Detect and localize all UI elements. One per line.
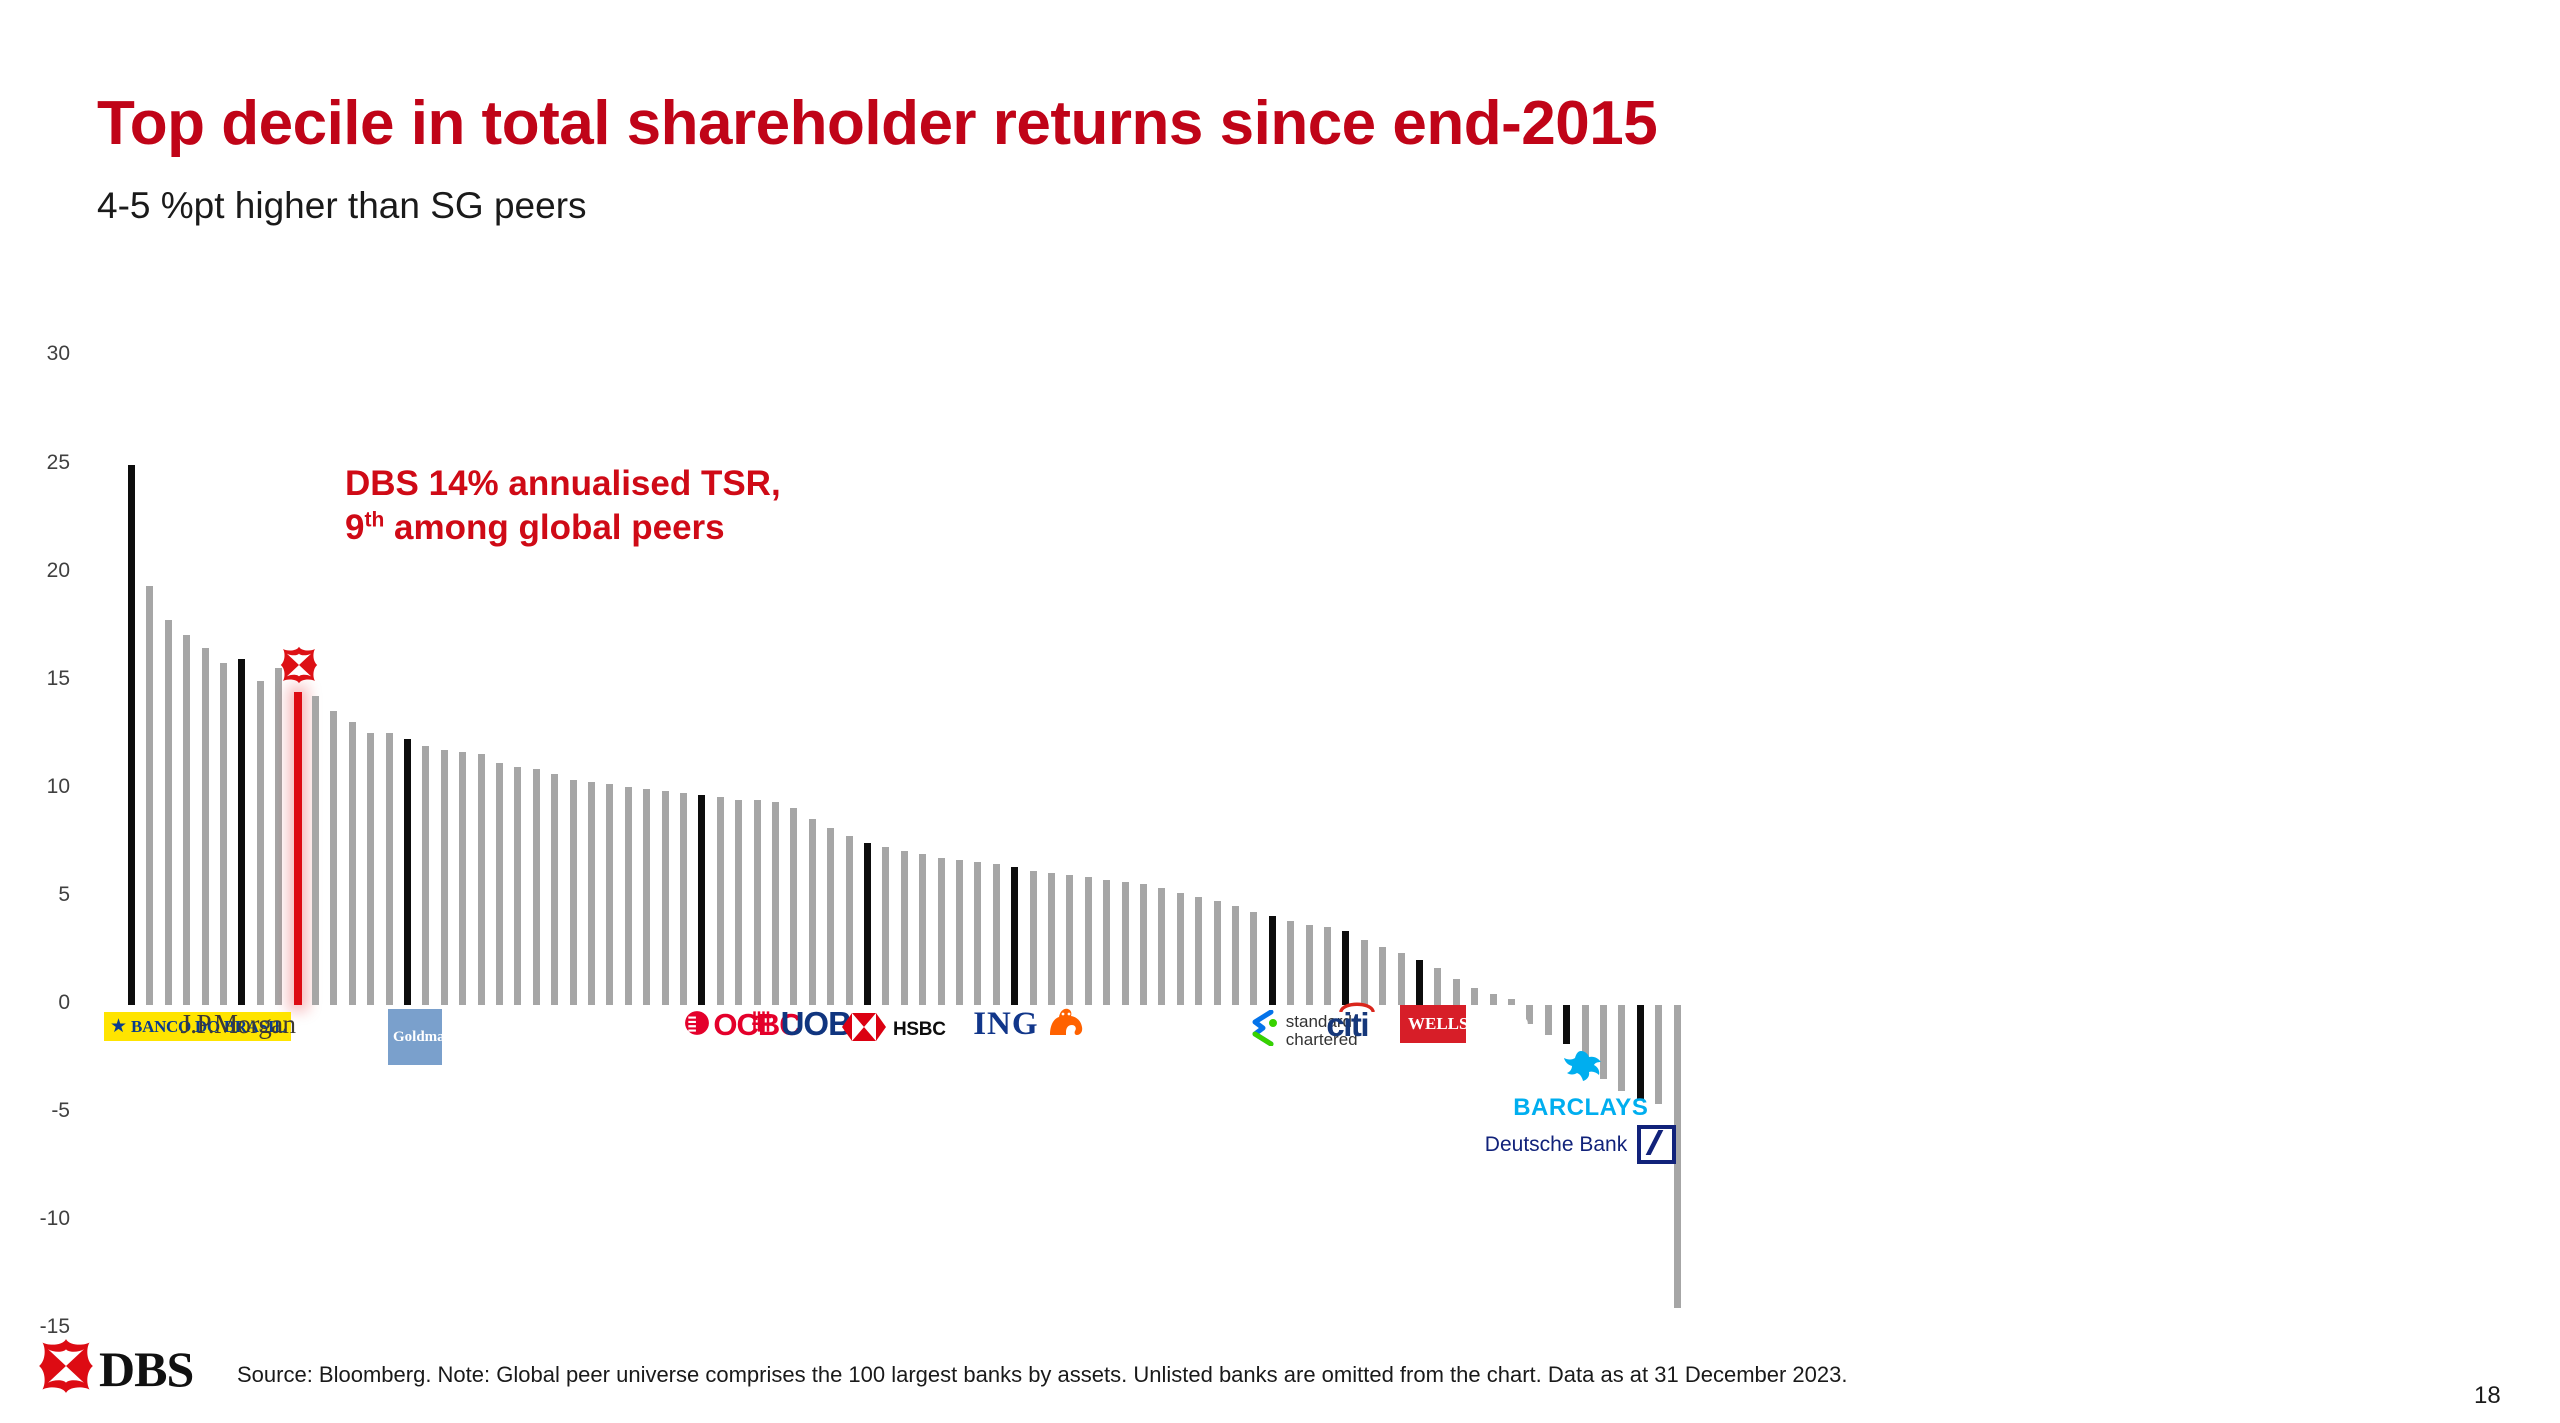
bar-peer: [1030, 871, 1037, 1005]
y-axis-tick: -10: [10, 1207, 70, 1231]
bar-peer: [478, 754, 485, 1005]
bar-peer: [827, 828, 834, 1005]
bar-peer: [422, 746, 429, 1005]
barclays-label: BARCLAYS: [1513, 1094, 1648, 1122]
bar-peer: [1545, 1005, 1552, 1035]
bar-peer: [349, 722, 356, 1005]
bar-peer: [1471, 988, 1478, 1005]
bar-peer: [754, 800, 761, 1005]
bar-peer: [312, 696, 319, 1005]
bar-peer: [1195, 897, 1202, 1005]
bar-peer: [551, 774, 558, 1005]
bar-peer: [846, 836, 853, 1005]
standard-chartered-mark-icon: [1247, 1010, 1279, 1051]
deutsche-bank-label: Deutsche Bank: [1485, 1133, 1627, 1157]
bar-peer: [441, 750, 448, 1005]
bar-peer: [496, 763, 503, 1005]
bar-peer: [238, 659, 245, 1005]
y-axis-tick: 25: [10, 451, 70, 475]
hsbc-label: HSBC: [893, 1019, 946, 1041]
bar-peer: [1177, 893, 1184, 1005]
annotation-line-2-text: among global peers: [384, 508, 724, 547]
bar-peer: [1453, 979, 1460, 1005]
bar-peer: [919, 854, 926, 1005]
y-axis-tick: 20: [10, 559, 70, 583]
bar-peer: [588, 782, 595, 1005]
bar-dbs: [294, 692, 302, 1005]
annotation-line-2: 9th among global peers: [345, 506, 781, 550]
bar-peer: [257, 681, 264, 1005]
source-note: Source: Bloomberg. Note: Global peer uni…: [237, 1362, 1848, 1388]
y-axis-tick: 30: [10, 342, 70, 366]
logo-citi: citi: [1326, 1006, 1368, 1044]
bar-peer: [1232, 906, 1239, 1005]
bar-peer: [1048, 873, 1055, 1005]
bar-peer: [220, 663, 227, 1005]
logo-wells-fargo: WELLSFARGO: [1400, 1005, 1466, 1043]
bar-peer: [146, 586, 153, 1005]
bar-peer: [165, 620, 172, 1005]
ocbc-mark-icon: [684, 1010, 710, 1041]
bar-peer: [1342, 931, 1349, 1005]
bar-peer: [1306, 925, 1313, 1005]
hsbc-hexagon-icon: [842, 1013, 886, 1046]
bar-peer: [1379, 947, 1386, 1005]
y-axis-tick: 10: [10, 775, 70, 799]
bar-peer: [275, 668, 282, 1005]
dbs-annotation: DBS 14% annualised TSR, 9th among global…: [345, 462, 781, 550]
bar-peer: [901, 851, 908, 1005]
annotation-line-1: DBS 14% annualised TSR,: [345, 462, 781, 506]
bar-peer: [1434, 968, 1441, 1005]
dbs-wordmark: DBS: [99, 1340, 193, 1398]
bar-peer: [1158, 888, 1165, 1005]
bar-peer: [202, 648, 209, 1005]
bar-peer: [698, 795, 705, 1005]
jp-morgan-label: J.P.Morgan: [180, 1009, 295, 1040]
bar-peer: [864, 843, 871, 1005]
bar-peer: [1563, 1005, 1570, 1044]
bar-peer: [1011, 867, 1018, 1005]
wells-fargo-label-1: WELLS: [1408, 1014, 1468, 1034]
bar-peer: [1122, 882, 1129, 1005]
logo-uob: UOB: [750, 1005, 851, 1043]
bar-peer: [1103, 880, 1110, 1005]
bar-peer: [183, 635, 190, 1005]
ing-label: ING: [973, 1006, 1038, 1043]
dbs-footer-logo: DBS: [38, 1338, 193, 1399]
bar-peer: [1324, 927, 1331, 1005]
logo-barclays: BARCLAYS: [1513, 1049, 1648, 1122]
barclays-eagle-icon: [1558, 1049, 1604, 1094]
bar-peer: [772, 802, 779, 1005]
y-axis-tick: 0: [10, 991, 70, 1015]
dbs-diamond-marker-icon: [280, 646, 318, 684]
bar-peer: [882, 847, 889, 1005]
bar-peer: [514, 767, 521, 1005]
annotation-rank: 9: [345, 508, 364, 547]
bar-peer: [330, 711, 337, 1005]
bar-peer: [1066, 875, 1073, 1005]
page-number: 18: [2474, 1382, 2501, 1410]
uob-label: UOB: [781, 1005, 851, 1043]
annotation-rank-suffix: th: [364, 508, 384, 531]
bar-peer: [404, 739, 411, 1005]
bar-peer: [625, 787, 632, 1005]
ing-lion-icon: [1044, 1005, 1088, 1044]
bar-peer: [1287, 921, 1294, 1005]
y-axis-tick: -5: [10, 1099, 70, 1123]
bar-peer: [938, 858, 945, 1005]
bar-peer: [1416, 960, 1423, 1005]
uob-mark-icon: [750, 1008, 777, 1040]
bar-peer: [717, 797, 724, 1005]
bar-peer: [974, 862, 981, 1005]
logo-ing: ING: [973, 1005, 1087, 1044]
deutsche-bank-mark-icon: [1637, 1125, 1676, 1164]
goldman-sachs-label-1: Goldman: [393, 1030, 453, 1045]
bar-peer: [643, 789, 650, 1005]
bar-peer: [735, 800, 742, 1005]
banco-do-brasil-mark-icon: ★: [110, 1015, 127, 1038]
bar-peer: [1508, 999, 1515, 1005]
bar-peer: [533, 769, 540, 1005]
bar-peer: [1490, 994, 1497, 1005]
bar-peer: [1398, 953, 1405, 1005]
bar-peer: [809, 819, 816, 1005]
bar-peer: [680, 793, 687, 1005]
bar-peer: [386, 733, 393, 1005]
bar-peer: [606, 784, 613, 1005]
bar-peer: [1140, 884, 1147, 1005]
bar-peer: [956, 860, 963, 1005]
bar-peer: [1214, 901, 1221, 1005]
logo-jp-morgan: J.P.Morgan: [180, 1009, 295, 1040]
bar-peer: [1085, 877, 1092, 1005]
logo-hsbc: HSBC: [842, 1013, 946, 1046]
bar-peer: [367, 733, 374, 1005]
bar-peer: [128, 465, 135, 1006]
dbs-diamond-icon: [38, 1338, 94, 1399]
citi-label: citi: [1326, 1006, 1368, 1044]
bar-peer: [1655, 1005, 1662, 1104]
y-axis-tick: -15: [10, 1315, 70, 1339]
y-axis-tick: 5: [10, 883, 70, 907]
wells-fargo-label-2: FARGO: [1468, 1014, 1528, 1034]
bar-peer: [1361, 940, 1368, 1005]
bar-peer: [459, 752, 466, 1005]
tsr-bar-chart: 302520151050-5-10-15★BANCO DO BRASILJ.P.…: [0, 0, 2560, 1423]
y-axis-tick: 15: [10, 667, 70, 691]
bar-peer: [993, 864, 1000, 1005]
logo-goldman-sachs: GoldmanSachs: [388, 1009, 442, 1065]
logo-deutsche-bank: Deutsche Bank: [1485, 1125, 1676, 1164]
bar-peer: [790, 808, 797, 1005]
bar-peer: [1269, 916, 1276, 1005]
bar-peer: [1250, 912, 1257, 1005]
goldman-sachs-label-2: Sachs: [453, 1030, 490, 1045]
bar-peer: [570, 780, 577, 1005]
bar-peer: [662, 791, 669, 1005]
